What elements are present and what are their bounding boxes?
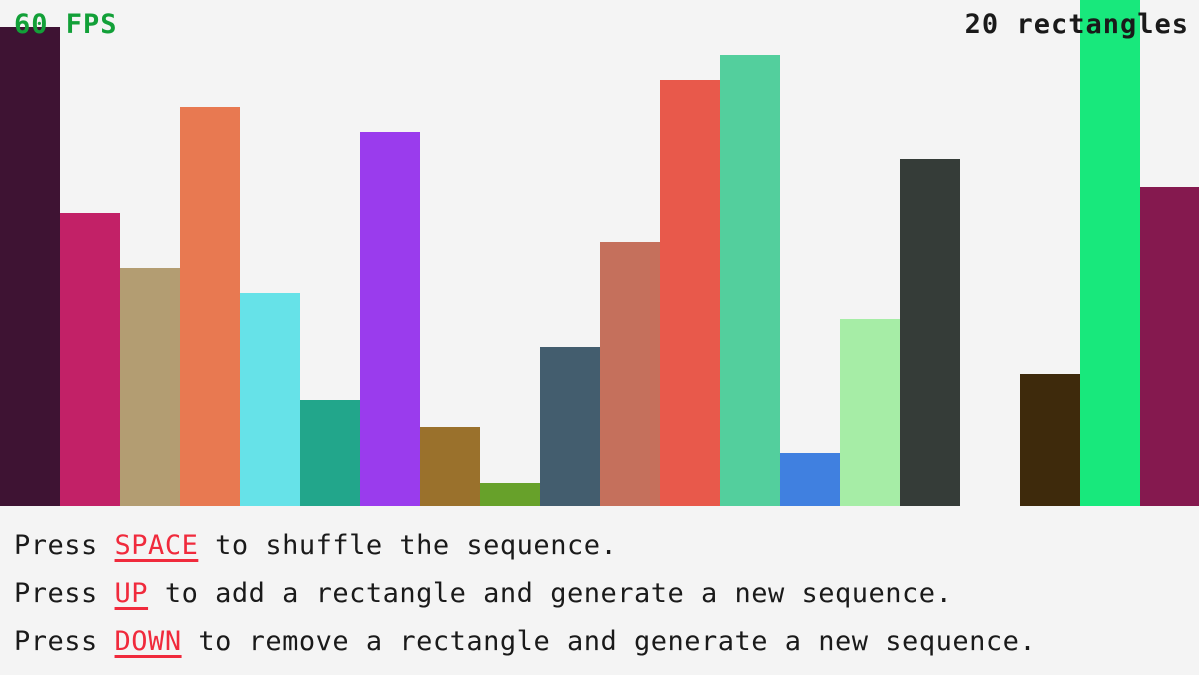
bar-19	[1080, 0, 1140, 506]
rectangle-count-label: 20 rectangles	[965, 9, 1189, 40]
bar-15	[840, 319, 900, 506]
bar-1	[0, 27, 60, 506]
instruction-suffix: to add a rectangle and generate a new se…	[148, 578, 952, 609]
key-up[interactable]: UP	[115, 578, 149, 609]
instruction-line-3: Press DOWN to remove a rectangle and gen…	[14, 618, 1199, 666]
bar-7	[360, 132, 420, 506]
bar-3	[120, 268, 180, 506]
bar-4	[180, 107, 240, 506]
instruction-line-2: Press UP to add a rectangle and generate…	[14, 570, 1199, 618]
instruction-suffix: to shuffle the sequence.	[198, 530, 617, 561]
fps-counter: 60 FPS	[14, 9, 118, 40]
key-space[interactable]: SPACE	[115, 530, 199, 561]
bar-chart	[0, 0, 1199, 506]
bar-20	[1140, 187, 1199, 506]
bar-9	[480, 483, 540, 506]
instruction-prefix: Press	[14, 578, 115, 609]
bar-10	[540, 347, 600, 506]
bar-18	[1020, 374, 1080, 506]
bar-12	[660, 80, 720, 506]
bar-6	[300, 400, 360, 506]
bar-13	[720, 55, 780, 506]
instruction-line-1: Press SPACE to shuffle the sequence.	[14, 522, 1199, 570]
bar-8	[420, 427, 480, 506]
app-canvas: 60 FPS 20 rectangles Press SPACE to shuf…	[0, 0, 1199, 675]
bar-14	[780, 453, 840, 506]
instruction-suffix: to remove a rectangle and generate a new…	[182, 626, 1037, 657]
bar-16	[900, 159, 960, 506]
instruction-prefix: Press	[14, 626, 115, 657]
bar-2	[60, 213, 120, 506]
key-down[interactable]: DOWN	[115, 626, 182, 657]
bar-5	[240, 293, 300, 506]
instruction-prefix: Press	[14, 530, 115, 561]
bar-11	[600, 242, 660, 506]
instructions-panel: Press SPACE to shuffle the sequence.Pres…	[0, 506, 1199, 675]
